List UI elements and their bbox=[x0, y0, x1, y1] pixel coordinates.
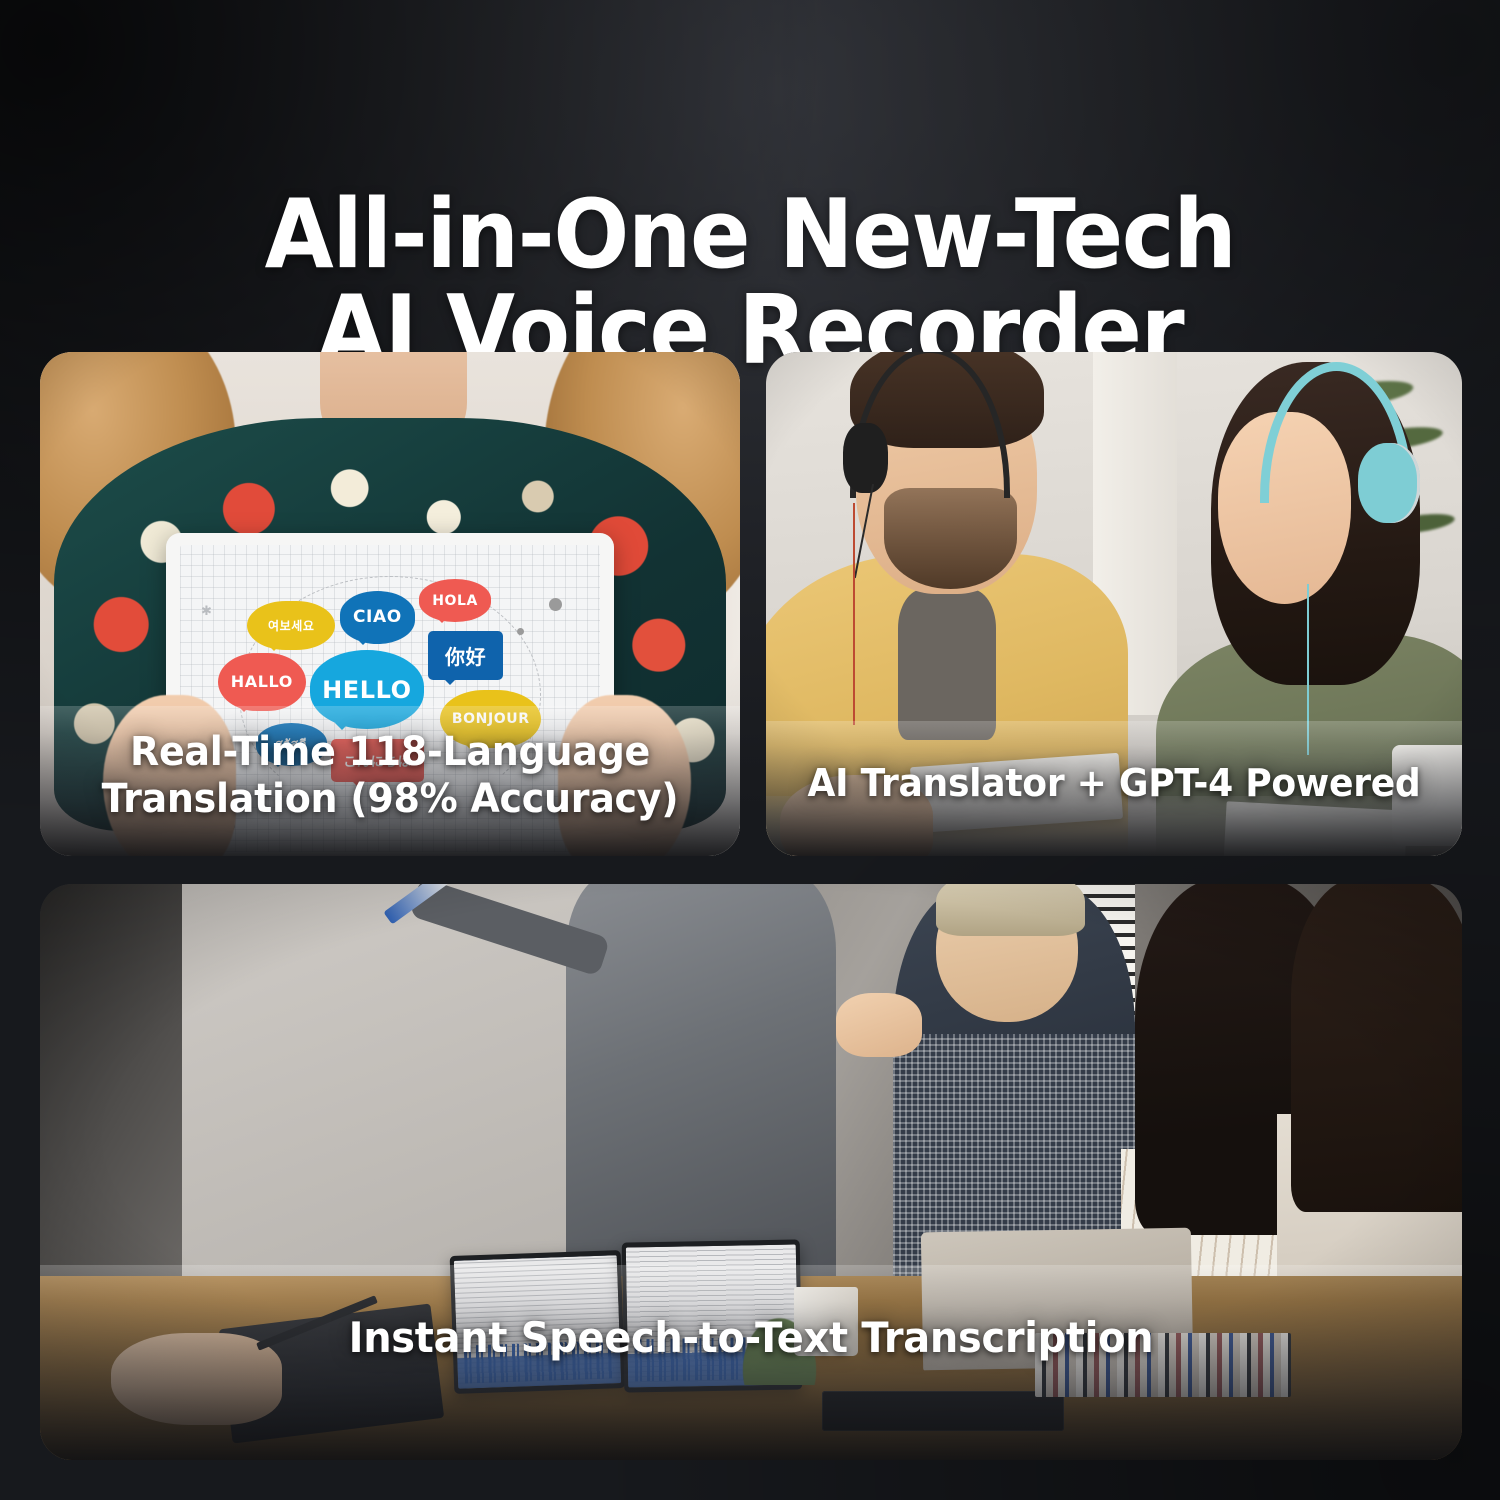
decorative-dot-large bbox=[549, 598, 562, 611]
caption-gpt: AI Translator + GPT-4 Powered bbox=[783, 724, 1444, 856]
woman-headphone-earcup bbox=[1358, 443, 1421, 524]
caption-gpt-text: AI Translator + GPT-4 Powered bbox=[808, 762, 1421, 806]
feature-card-translation[interactable]: ✱ ✱ 여보세요 CIAO HOLA 你好 HALLO bbox=[40, 352, 740, 856]
speech-bubble-spanish: HOLA bbox=[419, 579, 490, 622]
man-headset-earcup bbox=[843, 423, 888, 494]
speech-bubble-chinese: 你好 bbox=[428, 631, 504, 680]
caption-transcription: Instant Speech-to-Text Transcription bbox=[76, 1270, 1427, 1460]
attendee-woman2-hair bbox=[1291, 884, 1462, 1212]
caption-translation-text: Real-Time 118-Language Translation (98% … bbox=[102, 729, 679, 823]
caption-translation-line-2: Translation (98% Accuracy) bbox=[102, 776, 679, 822]
caption-transcription-text: Instant Speech-to-Text Transcription bbox=[349, 1314, 1154, 1362]
speech-bubble-korean: 여보세요 bbox=[247, 601, 335, 650]
decorative-dot-small bbox=[517, 628, 524, 635]
attendee-man-raised-fist bbox=[836, 993, 921, 1056]
man-beard bbox=[884, 488, 1016, 589]
feature-card-gpt[interactable]: AI Translator + GPT-4 Powered bbox=[766, 352, 1462, 856]
man-headset-cable bbox=[853, 503, 855, 725]
sparkle-icon-left: ✱ bbox=[201, 604, 212, 619]
speech-bubble-german: HALLO bbox=[218, 653, 306, 711]
caption-translation: Real-Time 118-Language Translation (98% … bbox=[58, 708, 723, 856]
attendee-man-hair bbox=[936, 884, 1085, 936]
page-title-line-1: All-in-One New-Tech bbox=[265, 180, 1236, 290]
speech-bubble-italian: CIAO bbox=[340, 591, 416, 643]
man-inner-tshirt bbox=[898, 589, 995, 740]
caption-translation-line-1: Real-Time 118-Language bbox=[130, 729, 650, 775]
feature-card-transcription[interactable]: Instant Speech-to-Text Transcription bbox=[40, 884, 1462, 1460]
